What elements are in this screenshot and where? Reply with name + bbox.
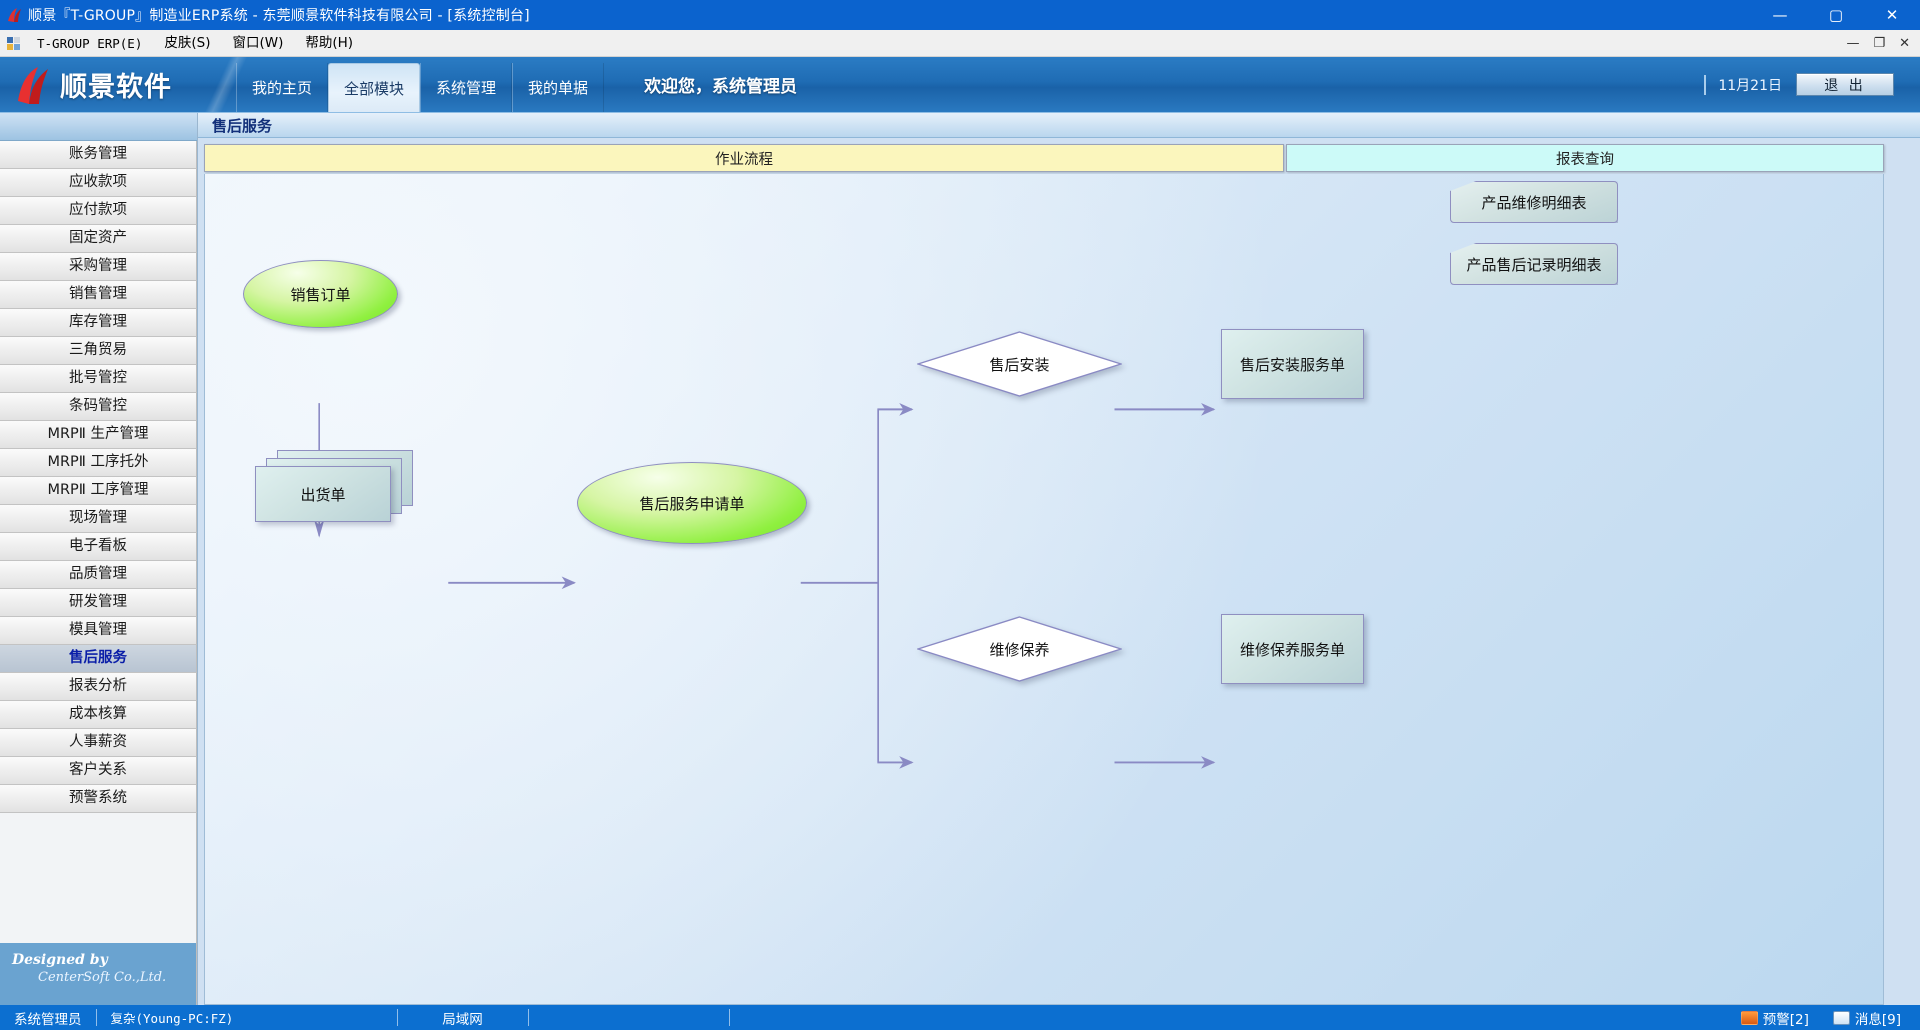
designer-company-label: CenterSoft Co.,Ltd. [12,970,196,985]
nav-tab-system-admin[interactable]: 系统管理 [420,63,512,112]
sidebar-item-sales[interactable]: 销售管理 [0,281,197,309]
flow-node-aftersales-record-report[interactable]: 产品售后记录明细表 [1450,243,1618,285]
flow-node-maintain-service-order-label: 维修保养服务单 [1240,639,1345,660]
status-bar: 系统管理员 复杂(Young-PC:FZ) 局域网 预警[2] 消息[9] [0,1005,1920,1030]
status-messages-label: 消息[9] [1855,1008,1901,1028]
status-alerts-label: 预警[2] [1763,1008,1809,1028]
flow-node-aftersales-record-report-label: 产品售后记录明细表 [1466,254,1601,275]
sidebar-item-fixed-assets[interactable]: 固定资产 [0,225,197,253]
flow-node-maintain-decision[interactable]: 维修保养 [917,616,1122,682]
tab-report-query[interactable]: 报表查询 [1286,144,1884,172]
app-body: 账务管理 应收款项 应付款项 固定资产 采购管理 销售管理 库存管理 三角贸易 … [0,113,1920,1005]
window-close-button[interactable]: ✕ [1864,0,1920,30]
mdi-app-icon [0,36,26,51]
flow-node-shipping-order[interactable]: 出货单 [255,450,415,526]
main-panel: 售后服务 作业流程 报表查询 [198,113,1920,1005]
flow-canvas: 销售订单 出货单 售后服务申请单 [204,174,1884,1005]
sidebar-header [0,113,197,141]
content-tabstrip: 作业流程 报表查询 [198,138,1920,174]
flow-connectors [205,174,1883,1004]
sidebar-item-receivables[interactable]: 应收款项 [0,169,197,197]
window-titlebar: 顺景『T-GROUP』制造业ERP系统 - 东莞顺景软件科技有限公司 - [系统… [0,0,1920,30]
sidebar-filler [0,813,197,943]
menu-item-window[interactable]: 窗口(W) [221,30,294,57]
menu-item-skin[interactable]: 皮肤(S) [153,30,221,57]
mdi-window-controls: — ❐ ✕ [1846,30,1914,57]
sidebar-item-barcode-control[interactable]: 条码管控 [0,393,197,421]
sidebar-item-after-sales[interactable]: 售后服务 [0,645,197,673]
mdi-close-button[interactable]: ✕ [1899,36,1910,51]
flow-node-shipping-order-label: 出货单 [300,484,345,505]
nav-tab-all-modules[interactable]: 全部模块 [328,63,420,112]
status-right-area: 预警[2] 消息[9] [1734,1007,1920,1029]
status-messages-badge[interactable]: 消息[9] [1826,1007,1908,1029]
flow-node-repair-detail-report-label: 产品维修明细表 [1481,192,1586,213]
sidebar-item-e-kanban[interactable]: 电子看板 [0,533,197,561]
flow-node-maintain-decision-label: 维修保养 [989,639,1049,660]
brand-logo-icon [14,65,52,105]
flow-node-install-decision[interactable]: 售后安装 [917,331,1122,397]
sidebar-item-hr-payroll[interactable]: 人事薪资 [0,729,197,757]
main-nav: 我的主页 全部模块 系统管理 我的单据 [236,57,604,112]
brand-name: 顺景软件 [60,65,172,104]
brand-area: 顺景软件 [0,57,236,112]
nav-tab-my-documents[interactable]: 我的单据 [512,63,604,112]
page-title-bar: 售后服务 [198,113,1920,138]
page-title: 售后服务 [212,115,272,136]
menu-item-erp[interactable]: T-GROUP ERP(E) [26,30,153,57]
sidebar-item-crm[interactable]: 客户关系 [0,757,197,785]
sidebar-item-cost-accounting[interactable]: 成本核算 [0,701,197,729]
sidebar-item-mrp2-process[interactable]: MRPⅡ 工序管理 [0,477,197,505]
header-right-area: 11月21日 退 出 [1704,57,1920,112]
application-menubar: T-GROUP ERP(E) 皮肤(S) 窗口(W) 帮助(H) — ❐ ✕ [0,30,1920,57]
status-user: 系统管理员 [0,1005,96,1030]
window-title: 顺景『T-GROUP』制造业ERP系统 - 东莞顺景软件科技有限公司 - [系统… [28,5,1752,25]
flow-node-service-request-label: 售后服务申请单 [639,493,744,514]
window-minimize-button[interactable]: — [1752,0,1808,30]
sidebar-item-mrp2-production[interactable]: MRPⅡ 生产管理 [0,421,197,449]
sidebar-item-mold[interactable]: 模具管理 [0,617,197,645]
nav-tab-home[interactable]: 我的主页 [236,63,328,112]
sidebar-item-purchasing[interactable]: 采购管理 [0,253,197,281]
menu-item-help[interactable]: 帮助(H) [294,30,364,57]
sidebar-item-inventory[interactable]: 库存管理 [0,309,197,337]
module-sidebar: 账务管理 应收款项 应付款项 固定资产 采购管理 销售管理 库存管理 三角贸易 … [0,113,198,1005]
sidebar-item-accounting[interactable]: 账务管理 [0,141,197,169]
window-maximize-button[interactable]: ▢ [1808,0,1864,30]
status-server: 复杂(Young-PC:FZ) [97,1005,397,1030]
logout-button[interactable]: 退 出 [1796,73,1894,96]
sidebar-item-shopfloor[interactable]: 现场管理 [0,505,197,533]
sidebar-footer: Designed by CenterSoft Co.,Ltd. [0,943,197,1005]
flow-canvas-wrap: 销售订单 出货单 售后服务申请单 [198,174,1920,1005]
welcome-message: 欢迎您，系统管理员 [604,57,797,112]
sidebar-item-quality[interactable]: 品质管理 [0,561,197,589]
sidebar-item-rnd[interactable]: 研发管理 [0,589,197,617]
flow-node-install-service-order[interactable]: 售后安装服务单 [1221,329,1364,399]
shipping-order-sheet-front: 出货单 [255,466,391,522]
sidebar-item-mrp2-outsourcing[interactable]: MRPⅡ 工序托外 [0,449,197,477]
envelope-icon [1833,1011,1850,1025]
designed-by-label: Designed by [12,952,196,968]
tab-work-flow[interactable]: 作业流程 [204,144,1284,172]
app-logo-icon [0,7,28,24]
flow-node-install-decision-label: 售后安装 [989,354,1049,375]
alert-icon [1741,1011,1758,1025]
flow-node-repair-detail-report[interactable]: 产品维修明细表 [1450,181,1618,223]
flow-node-sales-order-label: 销售订单 [290,284,350,305]
window-controls: — ▢ ✕ [1752,0,1920,30]
flow-node-install-service-order-label: 售后安装服务单 [1240,354,1345,375]
mdi-minimize-button[interactable]: — [1846,36,1859,51]
flow-node-service-request[interactable]: 售后服务申请单 [577,462,807,544]
sidebar-item-payables[interactable]: 应付款项 [0,197,197,225]
app-header: 顺景软件 我的主页 全部模块 系统管理 我的单据 欢迎您，系统管理员 11月21… [0,57,1920,113]
status-network: 局域网 [398,1005,528,1030]
flow-node-sales-order[interactable]: 销售订单 [243,260,398,328]
sidebar-item-triangle-trade[interactable]: 三角贸易 [0,337,197,365]
flow-node-maintain-service-order[interactable]: 维修保养服务单 [1221,614,1364,684]
status-blank-1 [529,1005,729,1030]
sidebar-item-lot-control[interactable]: 批号管控 [0,365,197,393]
sidebar-item-list: 账务管理 应收款项 应付款项 固定资产 采购管理 销售管理 库存管理 三角贸易 … [0,141,197,813]
status-alerts-badge[interactable]: 预警[2] [1734,1007,1816,1029]
status-separator-4 [729,1009,730,1026]
mdi-restore-button[interactable]: ❐ [1873,36,1885,51]
sidebar-item-report-analysis[interactable]: 报表分析 [0,673,197,701]
sidebar-item-alert-system[interactable]: 预警系统 [0,785,197,813]
header-date: 11月21日 [1704,75,1782,95]
